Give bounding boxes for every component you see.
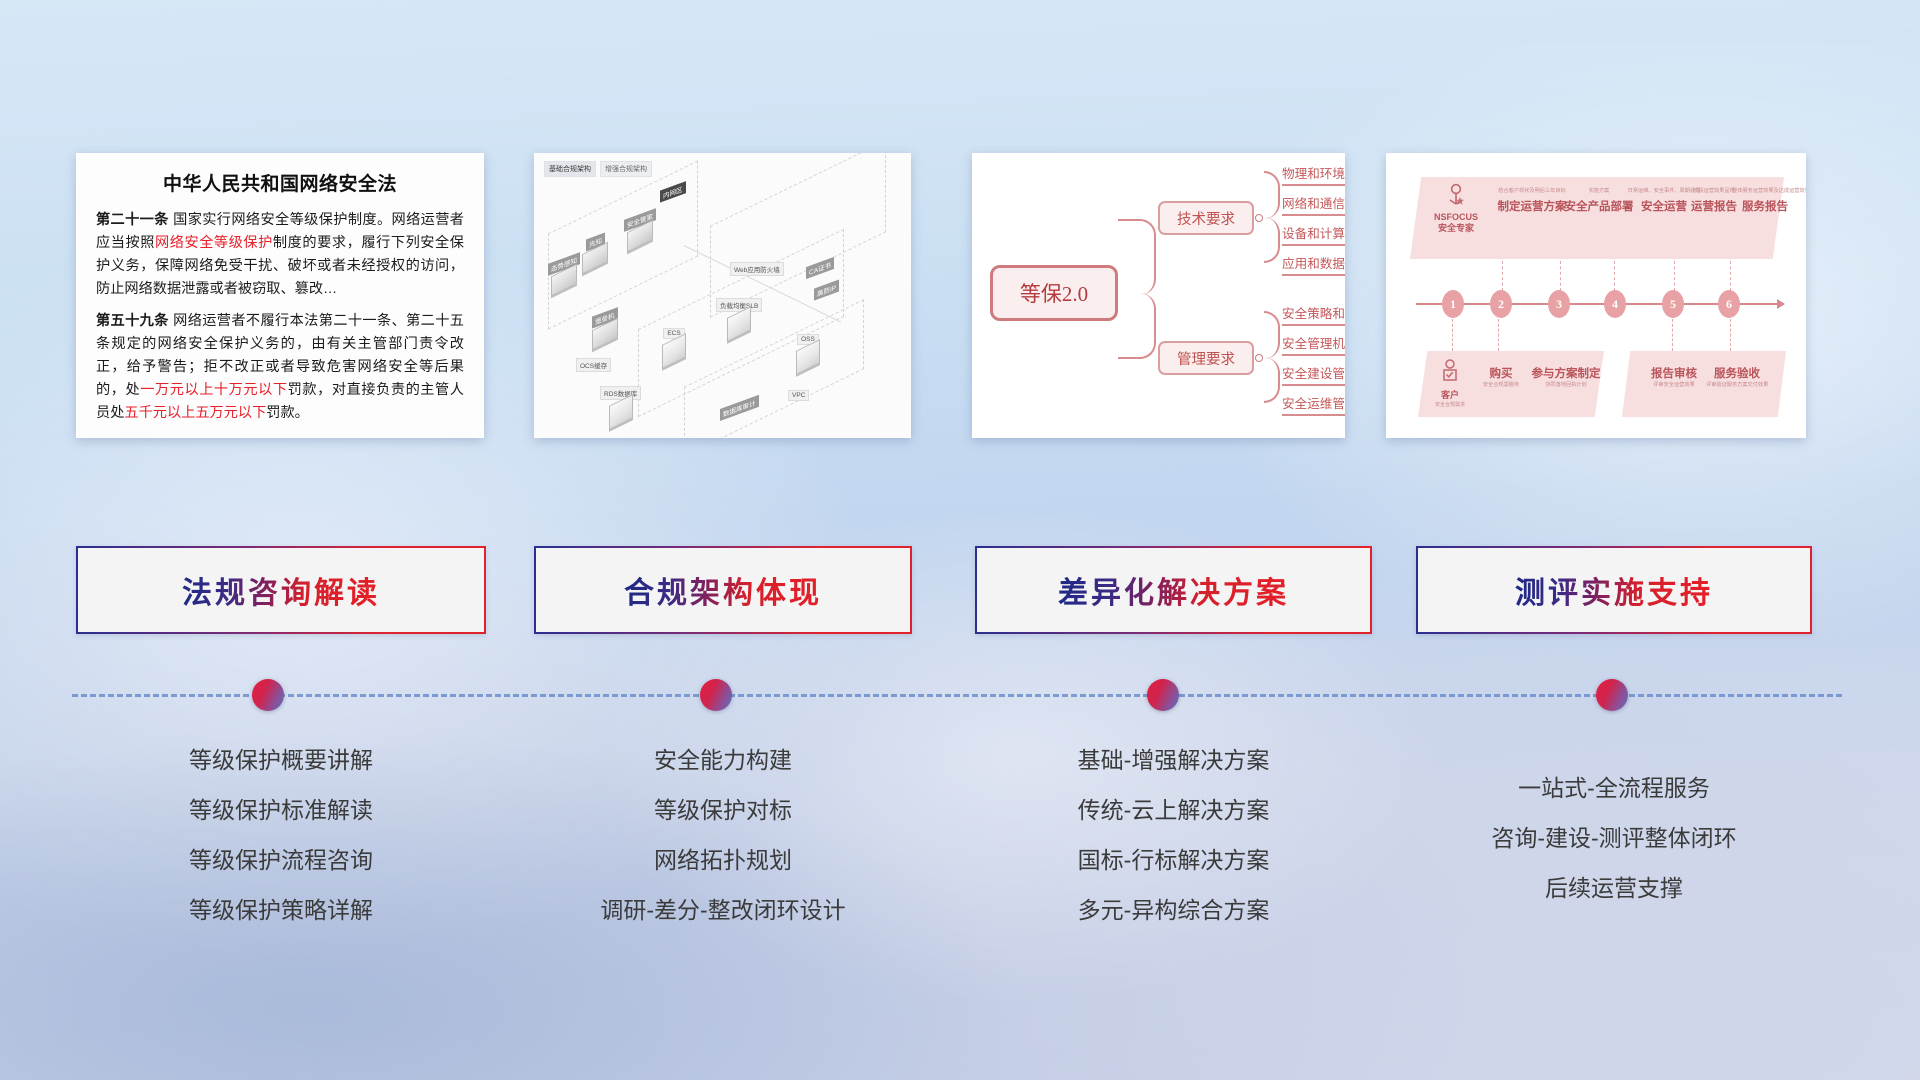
mindmap-leaf-physical-env: 物理和环境安全 (1282, 163, 1345, 186)
nsfocus-leader-line-top-5 (1730, 261, 1731, 291)
detail-list-differentiated-solution: 基础-增强解决方案 传统-云上解决方案 国标-行标解决方案 多元-异构综合方案 (975, 735, 1372, 935)
card-compliance-architecture[interactable]: 基础合规架构 增强合规架构 内网区 安全管家 先知 态势感知 (534, 153, 911, 438)
law-article-59-text-c: 罚款。 (266, 405, 309, 421)
law-article-59-highlight-a: 一万元以上十万元以下 (140, 382, 287, 398)
nsfocus-top-step-5: 整体服务运营效果及达成运营效果 服务报告 (1732, 187, 1798, 214)
architecture-node-vpc-label: VPC (788, 390, 809, 401)
nsfocus-bottom-step-4-label: 服务验收 (1706, 365, 1768, 381)
mindmap-leaf-network-comm: 网络和通信安全 (1282, 193, 1345, 216)
heading-label-4: 测评实施支持 (1515, 568, 1713, 612)
nsfocus-bottom-step-1-sub: 安全合规需服务 (1476, 381, 1526, 388)
mindmap-branch-management: 管理要求 (1158, 341, 1254, 375)
screenshot-cards-row: 中华人民共和国网络安全法 第二十一条 国家实行网络安全等级保护制度。网络运营者应… (0, 153, 1920, 443)
timeline-dot-1[interactable] (252, 679, 284, 711)
nsfocus-bottom-step-3-sub: 评审安全运营效果 (1644, 381, 1704, 388)
architecture-node-rds-label: RDS数据库 (600, 386, 641, 400)
list-item: 基础-增强解决方案 (975, 735, 1372, 785)
architecture-node-intranet: 内网区 (660, 189, 686, 198)
list-item: 咨询-建设-测评整体闭环 (1416, 813, 1812, 863)
nsfocus-leader-line-top-3 (1614, 261, 1615, 291)
architecture-node-slb: 负载均衡SLB (716, 301, 762, 336)
architecture-node-bastion: 堡垒机 (592, 315, 618, 344)
architecture-node-ocs: OCS缓存 (576, 361, 611, 372)
detail-list-assessment-support: 一站式-全流程服务 咨询-建设-测评整体闭环 后续运营支撑 (1416, 763, 1812, 913)
mindmap-curve-mgmt-1 (1264, 311, 1280, 359)
heading-label-2: 合规架构体现 (624, 568, 822, 612)
architecture-node-waf: Web应用防火墙 (730, 265, 784, 276)
mindmap-leaf-device-compute: 设备和计算安全 (1282, 223, 1345, 246)
nsfocus-bottom-step-4: 服务验收 评审验证服务方案交付效果 (1706, 365, 1768, 392)
detail-list-regulation-consulting: 等级保护概要讲解 等级保护标准解读 等级保护流程咨询 等级保护策略详解 (76, 735, 486, 935)
architecture-tabs: 基础合规架构 增强合规架构 (544, 161, 652, 177)
heading-box-regulation-consulting[interactable]: 法规咨询解读 (76, 546, 486, 634)
law-article-59-highlight-b: 五千元以上五万元以下 (124, 405, 266, 421)
architecture-node-security-steward: 安全管家 (624, 217, 656, 246)
nsfocus-bottom-step-4-sub: 评审验证服务方案交付效果 (1706, 381, 1768, 388)
mindmap-leaf-security-policy: 安全策略和管理制度 (1282, 303, 1345, 326)
nsfocus-step-number-1: 1 (1442, 290, 1464, 318)
nsfocus-step-number-3: 3 (1548, 290, 1570, 318)
list-item: 等级保护策略详解 (76, 885, 486, 935)
nsfocus-bottom-step-3-label: 报告审核 (1644, 365, 1704, 381)
list-item: 后续运营支撑 (1416, 863, 1812, 913)
nsfocus-leader-line-top-2 (1560, 261, 1561, 291)
architecture-node-waf-label: Web应用防火墙 (730, 262, 784, 276)
architecture-node-xianzhi: 先知 (582, 239, 608, 268)
architecture-node-db-audit: 数据库审计 (720, 405, 759, 414)
list-item: 传统-云上解决方案 (975, 785, 1372, 835)
architecture-node-ca: CA证书 (806, 265, 834, 274)
section-detail-lists: 等级保护概要讲解 等级保护标准解读 等级保护流程咨询 等级保护策略详解 安全能力… (0, 735, 1920, 965)
architecture-node-situation-awareness: 态势感知 (548, 261, 580, 290)
list-item: 多元-异构综合方案 (975, 885, 1372, 935)
nsfocus-top-step-5-label: 服务报告 (1732, 198, 1798, 214)
list-item: 一站式-全流程服务 (1416, 763, 1812, 813)
mindmap-branch-technical: 技术要求 (1158, 201, 1254, 235)
card-cybersecurity-law[interactable]: 中华人民共和国网络安全法 第二十一条 国家实行网络安全等级保护制度。网络运营者应… (76, 153, 484, 438)
mindmap-leaf-app-data: 应用和数据安全 (1282, 253, 1345, 276)
nsfocus-bottom-step-2-sub: 协同落地回执计划 (1528, 381, 1604, 388)
list-item: 等级保护流程咨询 (76, 835, 486, 885)
list-item: 等级保护概要讲解 (76, 735, 486, 785)
nsfocus-bottom-step-1-label: 购买 (1476, 365, 1526, 381)
mindmap-collapse-dot-management[interactable] (1255, 354, 1263, 362)
nsfocus-leader-line-bottom-1 (1452, 319, 1453, 351)
nsfocus-top-step-5-sub: 整体服务运营效果及达成运营效果 (1732, 187, 1798, 194)
section-headings: 法规咨询解读 合规架构体现 差异化解决方案 测评实施支持 (0, 546, 1920, 640)
architecture-tab-enhanced[interactable]: 增强合规架构 (600, 161, 652, 177)
law-article-59-label: 第五十九条 (96, 313, 169, 329)
nsfocus-diagram: NSFOCUS 安全专家 结合客户现状及明后三年目标 制定运营方案 实施方案 安… (1386, 153, 1806, 438)
mindmap-leaf-security-org: 安全管理机构和人员 (1282, 333, 1345, 356)
nsfocus-brand-line2: 安全专家 (1426, 223, 1486, 234)
law-article-21: 第二十一条 国家实行网络安全等级保护制度。网络运营者应当按照网络安全等级保护制度… (96, 209, 464, 301)
law-article-59: 第五十九条 网络运营者不履行本法第二十一条、第二十五条规定的网络安全保护义务的，… (96, 310, 464, 425)
nsfocus-bottom-step-3: 报告审核 评审安全运营效果 (1644, 365, 1704, 392)
nsfocus-brand-line1: NSFOCUS (1426, 212, 1486, 223)
nsfocus-customer-sub: 安全合规需求 (1430, 401, 1470, 408)
architecture-node-ecs: ECS (662, 331, 686, 363)
mindmap-leaf-security-ops: 安全运维管理 (1282, 393, 1345, 416)
nsfocus-bottom-step-1: 购买 安全合规需服务 (1476, 365, 1526, 392)
timeline-dashed-line (72, 694, 1842, 697)
nsfocus-customer: 客户 安全合规需求 (1430, 359, 1470, 408)
nsfocus-bottom-step-2-label: 参与方案制定 (1528, 365, 1604, 381)
timeline-dot-4[interactable] (1596, 679, 1628, 711)
nsfocus-step-number-6: 6 (1718, 290, 1740, 318)
list-item: 等级保护对标 (534, 785, 912, 835)
nsfocus-step-number-5: 5 (1662, 290, 1684, 318)
nsfocus-step-number-2: 2 (1490, 290, 1512, 318)
list-item: 安全能力构建 (534, 735, 912, 785)
architecture-node-vpc: VPC (788, 393, 809, 401)
timeline-connector (0, 650, 1920, 730)
timeline-dot-2[interactable] (700, 679, 732, 711)
list-item: 网络拓扑规划 (534, 835, 912, 885)
law-article-21-highlight: 网络安全等级保护 (155, 235, 273, 251)
architecture-node-ocs-label: OCS缓存 (576, 358, 611, 372)
architecture-node-oss: OSS (796, 337, 820, 369)
list-item: 等级保护标准解读 (76, 785, 486, 835)
nsfocus-leader-line-top-1 (1502, 261, 1503, 291)
timeline-dot-3[interactable] (1147, 679, 1179, 711)
architecture-diagram: 基础合规架构 增强合规架构 内网区 安全管家 先知 态势感知 (534, 153, 911, 438)
mindmap-leaf-security-build: 安全建设管理 (1282, 363, 1345, 386)
architecture-tab-basic[interactable]: 基础合规架构 (544, 161, 596, 177)
architecture-node-slb-label: 负载均衡SLB (716, 298, 762, 312)
architecture-node-antiddos: 高防IP (814, 287, 839, 296)
card-nsfocus-timeline[interactable]: NSFOCUS 安全专家 结合客户现状及明后三年目标 制定运营方案 实施方案 安… (1386, 153, 1806, 438)
nsfocus-leader-line-bottom-4 (1730, 319, 1731, 351)
law-document: 中华人民共和国网络安全法 第二十一条 国家实行网络安全等级保护制度。网络运营者应… (76, 153, 484, 438)
customer-person-icon (1440, 359, 1460, 381)
mindmap-curve-tech (1118, 219, 1156, 295)
law-article-21-label: 第二十一条 (96, 212, 169, 228)
nsfocus-step-number-4: 4 (1604, 290, 1626, 318)
architecture-node-rds: RDS数据库 (600, 389, 641, 424)
nsfocus-bottom-step-2: 参与方案制定 协同落地回执计划 (1528, 365, 1604, 392)
mindmap-curve-mgmt-2 (1264, 357, 1280, 403)
card-mindmap-dengbao[interactable]: 等保2.0 技术要求 管理要求 物理和环境安全 网络和通信安全 设备和计算安全 … (972, 153, 1345, 438)
mindmap-collapse-dot-technical[interactable] (1255, 214, 1263, 222)
heading-label-3: 差异化解决方案 (1058, 568, 1289, 612)
nsfocus-brand: NSFOCUS 安全专家 (1426, 183, 1486, 235)
mindmap-root: 等保2.0 (990, 265, 1118, 321)
heading-label-1: 法规咨询解读 (182, 568, 380, 612)
heading-box-differentiated-solution[interactable]: 差异化解决方案 (975, 546, 1372, 634)
list-item: 调研-差分-整改闭环设计 (534, 885, 912, 935)
nsfocus-leader-line-bottom-2 (1498, 319, 1499, 351)
detail-list-compliance-architecture: 安全能力构建 等级保护对标 网络拓扑规划 调研-差分-整改闭环设计 (534, 735, 912, 935)
nsfocus-customer-label: 客户 (1430, 388, 1470, 401)
nsfocus-leader-line-bottom-3 (1672, 319, 1673, 351)
list-item: 国标-行标解决方案 (975, 835, 1372, 885)
expert-person-icon (1445, 183, 1467, 207)
heading-box-compliance-architecture[interactable]: 合规架构体现 (534, 546, 912, 634)
nsfocus-leader-line-top-4 (1674, 261, 1675, 291)
heading-box-assessment-support[interactable]: 测评实施支持 (1416, 546, 1812, 634)
mindmap-diagram: 等保2.0 技术要求 管理要求 物理和环境安全 网络和通信安全 设备和计算安全 … (972, 153, 1345, 438)
mindmap-curve-mgmt (1118, 293, 1156, 359)
law-title: 中华人民共和国网络安全法 (96, 169, 464, 196)
